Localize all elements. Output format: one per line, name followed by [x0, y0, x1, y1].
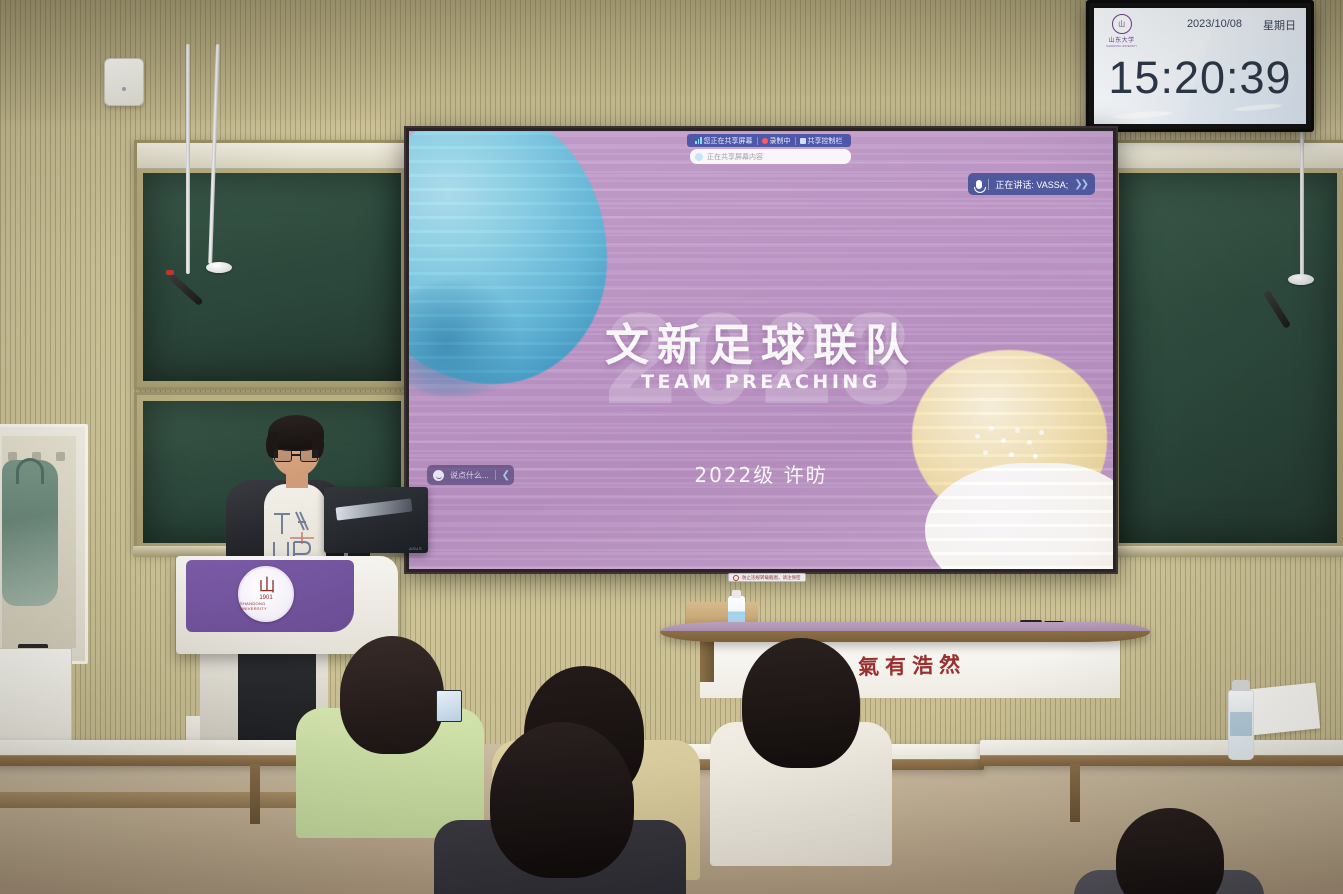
slide-presenter-line: 2022级 许昉	[694, 459, 827, 488]
blackboard-right	[1110, 140, 1343, 552]
ceiling-microphone-right	[1288, 274, 1314, 285]
share-field-icon	[695, 153, 703, 161]
share-control-segment[interactable]: 共享控制栏	[796, 136, 847, 146]
institution-name-en: SHANDONG UNIVERSITY	[1106, 45, 1137, 48]
active-speaker-pill[interactable]: 正在讲话: VASSA; ❯❯	[968, 173, 1095, 195]
share-status-label: 您正在共享屏幕	[704, 136, 753, 146]
recording-status-segment[interactable]: 录制中	[758, 136, 795, 146]
front-desk-surface	[660, 622, 1150, 642]
university-seal-icon: 山	[1112, 14, 1132, 34]
chat-pill-divider	[495, 470, 496, 480]
coat-hook-3	[56, 452, 65, 461]
student-desk-row1-right	[980, 740, 1343, 766]
share-control-icon	[800, 138, 806, 144]
blackboard-left	[134, 140, 410, 390]
digital-clock-display: 山 山东大学 SHANDONG UNIVERSITY 2023/10/08 星期…	[1086, 0, 1314, 132]
projection-screen: 2023 文新足球联队 TEAM PREACHING 2022级 许昉 您正在共…	[404, 126, 1118, 574]
jacket-hanger-loop	[16, 458, 44, 484]
student-desk-leg-1	[250, 764, 260, 824]
slide-subtitle: TEAM PREACHING	[641, 371, 881, 393]
monitor-brand-label: ASUS	[409, 546, 422, 551]
blackboard-left-lip	[137, 143, 407, 169]
wifi-access-point-icon	[104, 58, 144, 106]
blackboard-right-lip	[1113, 143, 1343, 169]
glasses-lens-right	[300, 449, 318, 462]
clock-time: 15:20:39	[1094, 52, 1306, 104]
desk-calligraphy: 氣有浩然	[858, 649, 967, 682]
presenter-glasses-icon	[274, 449, 318, 462]
blackboard-left-surface	[143, 173, 401, 381]
institution-name: 山东大学	[1109, 35, 1135, 44]
signal-bars-icon	[695, 137, 702, 144]
presentation-slide: 2023 文新足球联队 TEAM PREACHING 2022级 许昉 您正在共…	[409, 131, 1113, 569]
classroom-presentation-scene: 山 山东大学 SHANDONG UNIVERSITY 2023/10/08 星期…	[0, 0, 1343, 894]
water-bottle-cap	[1232, 680, 1250, 691]
decorative-dots	[971, 424, 1051, 464]
seal-glyph: 山	[1118, 21, 1125, 28]
screen-notice-strip: 防止违规转载截图，请注保密	[728, 573, 806, 582]
water-bottle-label	[1230, 712, 1252, 736]
student-hair	[490, 722, 634, 878]
clock-institution-logo: 山 山东大学 SHANDONG UNIVERSITY	[1106, 14, 1137, 48]
share-control-label: 共享控制栏	[808, 136, 843, 146]
screen-share-toolbar[interactable]: 您正在共享屏幕 录制中 共享控制栏	[687, 134, 851, 147]
glasses-lens-left	[274, 449, 292, 462]
ceiling-microphone-left	[206, 262, 232, 273]
hand-sanitizer-cap	[732, 590, 741, 598]
active-speaker-label: 正在讲话: VASSA;	[995, 178, 1068, 191]
student-desk-leg-2	[1070, 764, 1080, 822]
chevron-left-icon[interactable]: ❮	[502, 470, 508, 481]
clock-glare-lower-right	[1234, 103, 1282, 112]
student-desk-row1-left	[0, 740, 324, 766]
clock-weekday: 星期日	[1263, 17, 1296, 33]
chalk-rail-right	[1109, 546, 1343, 557]
screen-notice-text: 防止违规转载截图，请注保密	[742, 575, 801, 581]
smiley-icon[interactable]	[433, 470, 444, 481]
floor-edge-strip	[0, 792, 320, 808]
warning-seal-icon	[733, 575, 739, 581]
front-desk-leg	[700, 640, 714, 682]
glasses-bridge	[292, 454, 300, 456]
loose-papers	[1246, 682, 1320, 735]
recording-label: 录制中	[770, 136, 791, 146]
share-field-placeholder: 正在共享屏幕内容	[707, 152, 763, 162]
blackboard-right-surface	[1119, 173, 1337, 543]
emblem-mountain-glyph: 山	[259, 577, 274, 594]
chat-input-placeholder: 说点什么...	[450, 470, 489, 481]
network-status-segment: 您正在共享屏幕	[691, 136, 757, 146]
record-icon	[762, 138, 768, 144]
student-hair	[742, 638, 860, 768]
microphone-icon	[976, 180, 982, 189]
chevron-double-icon[interactable]: ❯❯	[1074, 179, 1087, 190]
speaker-pill-divider	[988, 179, 989, 190]
slide-title: 文新足球联队	[605, 309, 917, 373]
boom-mic-tip-left	[166, 270, 174, 275]
chat-input-pill[interactable]: 说点什么... ❮	[427, 465, 514, 485]
ceiling-mic-rod-1	[186, 44, 190, 274]
university-emblem-icon: 山 1901 SHANDONG UNIVERSITY	[238, 566, 294, 622]
clock-screen: 山 山东大学 SHANDONG UNIVERSITY 2023/10/08 星期…	[1094, 8, 1306, 124]
emblem-ring-text: SHANDONG UNIVERSITY	[240, 601, 292, 611]
share-status-field[interactable]: 正在共享屏幕内容	[690, 149, 851, 164]
clock-date: 2023/10/08	[1187, 18, 1242, 30]
tablet-on-desk	[436, 690, 462, 722]
student-hair	[340, 636, 444, 754]
